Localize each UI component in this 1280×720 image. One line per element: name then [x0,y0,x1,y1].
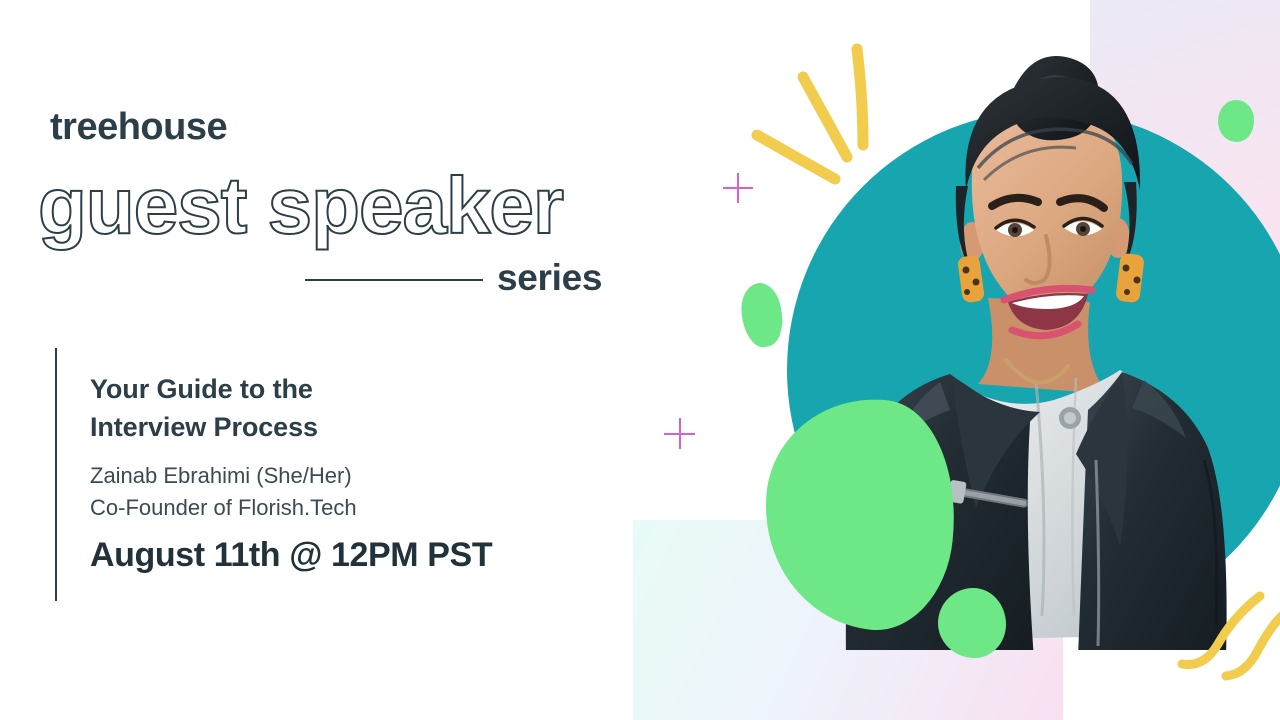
yellow-sparkle-icon [745,35,905,220]
magenta-plus-icon [664,418,695,449]
series-row: series [305,256,625,300]
speaker-block: Zainab Ebrahimi (She/Her) Co-Founder of … [90,460,357,524]
yellow-squiggle-icon [1178,578,1280,683]
vertical-accent-rule [55,348,57,601]
green-pebble [938,588,1006,658]
talk-title: Your Guide to the Interview Process [90,370,318,447]
magenta-plus-icon [723,173,753,203]
brand-name: treehouse [50,108,227,146]
series-divider [305,279,483,281]
slide-canvas: treehouse guest speaker series Your Guid… [0,0,1280,720]
speaker-name: Zainab Ebrahimi (She/Her) [90,460,357,492]
headline-guest-speaker: guest speaker [38,166,563,246]
green-blob-small [736,280,788,351]
green-dot [1218,100,1254,142]
series-label: series [497,256,602,300]
talk-title-line-1: Your Guide to the [90,370,318,408]
speaker-role: Co-Founder of Florish.Tech [90,492,357,524]
event-datetime: August 11th @ 12PM PST [90,535,492,576]
text-content: treehouse guest speaker series Your Guid… [0,0,660,720]
talk-title-line-2: Interview Process [90,408,318,446]
